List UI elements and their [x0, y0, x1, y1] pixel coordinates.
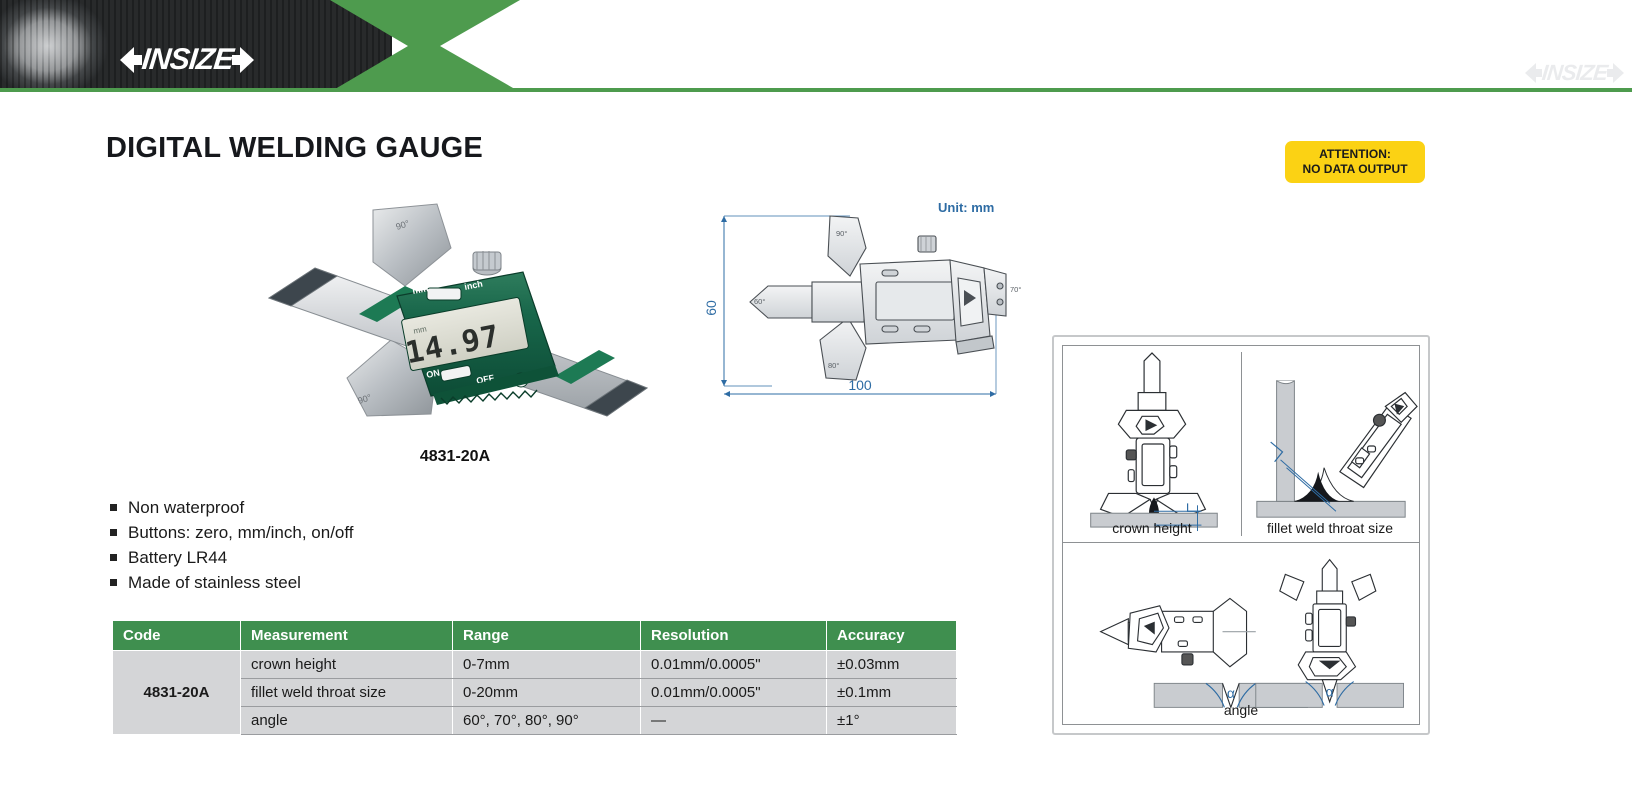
column-header-measurement: Measurement — [241, 621, 453, 651]
cell-accuracy: ±1° — [827, 707, 957, 735]
insize-watermark-logo: INSIZE — [1525, 60, 1624, 86]
cell-measurement: crown height — [241, 651, 453, 679]
cell-resolution: 0.01mm/0.0005" — [641, 651, 827, 679]
list-item: Battery LR44 — [110, 548, 354, 568]
cell-range: 60°, 70°, 80°, 90° — [453, 707, 641, 735]
angle-symbol-right: α — [1326, 683, 1334, 699]
insize-arrow-logo[interactable]: INSIZE — [92, 42, 282, 78]
column-header-accuracy: Accuracy — [827, 621, 957, 651]
header-green-rule — [0, 88, 1632, 92]
cell-measurement: angle — [241, 707, 453, 735]
page-title: DIGITAL WELDING GAUGE — [106, 132, 483, 165]
angle-mark-60: 60° — [754, 297, 765, 306]
angle-symbol-left: α — [1227, 685, 1235, 701]
column-header-code: Code — [113, 621, 241, 651]
thumb-wheel-icon — [473, 251, 501, 275]
angle-mark-90: 90° — [836, 229, 847, 238]
specification-table: Code Measurement Range Resolution Accura… — [112, 620, 957, 735]
list-item: Non waterproof — [110, 498, 354, 518]
logo-right-arrow-icon — [240, 47, 254, 73]
watermark-right-arrow-icon — [1613, 63, 1624, 83]
cell-measurement: fillet weld throat size — [241, 679, 453, 707]
application-panel: crown height — [1052, 335, 1430, 735]
feature-list: Non waterproof Buttons: zero, mm/inch, o… — [110, 498, 354, 598]
attention-line-2: NO DATA OUTPUT — [1302, 162, 1407, 177]
attention-badge: ATTENTION: NO DATA OUTPUT — [1285, 141, 1425, 183]
application-panel-inner: crown height — [1062, 345, 1420, 725]
caption-angle: angle — [1063, 702, 1419, 718]
angle-mark-70: 70° — [1010, 285, 1021, 294]
cell-accuracy: ±0.03mm — [827, 651, 957, 679]
bullet-square-icon — [110, 579, 117, 586]
cell-resolution: 0.01mm/0.0005" — [641, 679, 827, 707]
table-row: 4831-20A crown height 0-7mm 0.01mm/0.000… — [113, 651, 957, 679]
application-top-row: crown height — [1063, 346, 1419, 542]
cell-code: 4831-20A — [113, 651, 241, 735]
bullet-square-icon — [110, 504, 117, 511]
product-photo: 90° 90° mm inch — [255, 190, 665, 435]
cell-range: 0-7mm — [453, 651, 641, 679]
height-dimension: 60 — [703, 300, 719, 316]
logo-left-bar-icon — [132, 55, 142, 65]
angle-mark-80: 80° — [828, 361, 839, 370]
bullet-square-icon — [110, 529, 117, 536]
cell-accuracy: ±0.1mm — [827, 679, 957, 707]
cell-range: 0-20mm — [453, 679, 641, 707]
header-white-chevron — [440, 0, 1632, 92]
column-header-resolution: Resolution — [641, 621, 827, 651]
application-fillet-weld: fillet weld throat size — [1241, 346, 1419, 542]
page-header: INSIZE — [0, 0, 1632, 92]
caption-crown-height: crown height — [1063, 520, 1241, 536]
list-item: Buttons: zero, mm/inch, on/off — [110, 523, 354, 543]
list-item: Made of stainless steel — [110, 573, 354, 593]
table-header-row: Code Measurement Range Resolution Accura… — [113, 621, 957, 651]
caption-fillet-weld: fillet weld throat size — [1241, 520, 1419, 536]
application-crown-height: crown height — [1063, 346, 1241, 542]
dimension-drawing: 60 100 90° 60° 80° 70° — [700, 190, 1030, 405]
column-header-range: Range — [453, 621, 641, 651]
watermark-brand-name: INSIZE — [1541, 60, 1609, 86]
bullet-square-icon — [110, 554, 117, 561]
application-angle: α — [1063, 543, 1419, 724]
brand-name: INSIZE — [140, 43, 234, 77]
product-model-label: 4831-20A — [330, 448, 580, 466]
cell-resolution: — — [641, 707, 827, 735]
attention-line-1: ATTENTION: — [1319, 147, 1391, 162]
